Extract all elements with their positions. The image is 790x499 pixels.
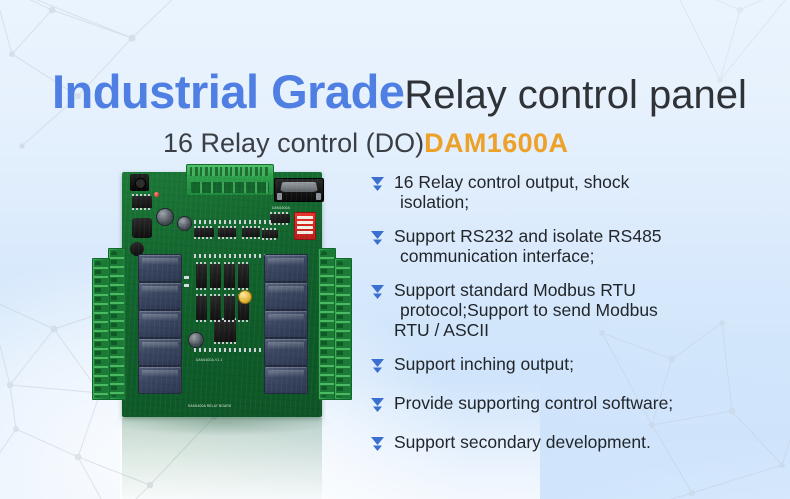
relay-module bbox=[138, 310, 182, 338]
driver-ic bbox=[262, 230, 278, 238]
optocoupler bbox=[238, 264, 249, 288]
relay-module bbox=[264, 338, 308, 366]
yellow-capacitor bbox=[238, 290, 252, 304]
electrolytic-capacitor bbox=[188, 332, 204, 348]
double-chevron-down-icon bbox=[370, 175, 385, 197]
feature-line-1: Support inching output; bbox=[394, 354, 574, 374]
relay-module bbox=[138, 254, 182, 282]
feature-line-1: Support RS232 and isolate RS485 bbox=[394, 226, 662, 246]
relay-module bbox=[138, 338, 182, 366]
title-rest-text: Relay control panel bbox=[404, 73, 746, 117]
relay-board: DAM1600A DAM1600A-V1.1 DAM1600A RELAY BO… bbox=[122, 172, 322, 417]
electrolytic-capacitor bbox=[156, 208, 174, 226]
feature-item: Support standard Modbus RTUprotocol;Supp… bbox=[370, 280, 770, 340]
relay-module bbox=[264, 366, 308, 394]
smd-resistor bbox=[184, 284, 189, 287]
power-jack bbox=[130, 174, 149, 191]
feature-item: 16 Relay control output, shockisolation; bbox=[370, 172, 770, 212]
feature-text: Support inching output; bbox=[394, 354, 574, 374]
optocoupler bbox=[196, 296, 207, 320]
product-image: DAM1600A DAM1600A-V1.1 DAM1600A RELAY BO… bbox=[100, 162, 345, 452]
electrolytic-capacitor bbox=[177, 216, 192, 231]
silkscreen-mid: DAM1600A-V1.1 bbox=[196, 358, 223, 362]
feature-text: 16 Relay control output, shockisolation; bbox=[394, 172, 629, 212]
optocoupler bbox=[224, 264, 235, 288]
logic-ic bbox=[218, 228, 236, 237]
feature-line-2: protocol;Support to send Modbus bbox=[394, 300, 658, 320]
optocoupler bbox=[210, 296, 221, 320]
feature-item: Support inching output; bbox=[370, 354, 770, 379]
optocoupler bbox=[196, 264, 207, 288]
feature-line-1: Support secondary development. bbox=[394, 432, 651, 452]
feature-line-3: RTU / ASCII bbox=[394, 320, 658, 340]
smd-resistor bbox=[184, 276, 189, 279]
feature-line-1: 16 Relay control output, shock bbox=[394, 172, 629, 192]
feature-line-2: isolation; bbox=[394, 192, 629, 212]
double-chevron-down-icon bbox=[370, 357, 385, 379]
relay-module bbox=[138, 282, 182, 310]
double-chevron-down-icon bbox=[370, 396, 385, 418]
optocoupler bbox=[210, 264, 221, 288]
db9-serial-connector bbox=[274, 178, 324, 202]
banner-subtitle: 16 Relay control (DO)DAM1600A bbox=[163, 126, 568, 160]
inductor bbox=[132, 218, 152, 238]
feature-line-2: communication interface; bbox=[394, 246, 662, 266]
logic-ic bbox=[242, 228, 260, 237]
feature-item: Support secondary development. bbox=[370, 432, 770, 457]
feature-text: Support secondary development. bbox=[394, 432, 651, 452]
double-chevron-down-icon bbox=[370, 435, 385, 457]
feature-line-1: Support standard Modbus RTU bbox=[394, 280, 636, 300]
feature-item: Support RS232 and isolate RS485communica… bbox=[370, 226, 770, 266]
relay-module bbox=[264, 310, 308, 338]
subtitle-model-number: DAM1600A bbox=[424, 128, 568, 158]
power-led bbox=[154, 192, 159, 197]
terminal-strip-right-outer bbox=[334, 258, 352, 400]
silkscreen-top: DAM1600A bbox=[272, 206, 290, 210]
terminal-block-top bbox=[186, 164, 274, 196]
silkscreen-bottom: DAM1600A RELAY BOARD bbox=[188, 404, 231, 408]
feature-item: Provide supporting control software; bbox=[370, 393, 770, 418]
banner-title: Industrial GradeRelay control panel bbox=[52, 63, 747, 124]
double-chevron-down-icon bbox=[370, 283, 385, 305]
double-chevron-down-icon bbox=[370, 229, 385, 251]
terminal-strip-left-outer bbox=[92, 258, 110, 400]
smd-pad-row bbox=[194, 220, 274, 224]
optocoupler bbox=[224, 296, 235, 320]
title-brand-text: Industrial Grade bbox=[52, 65, 404, 118]
smd-pad-row bbox=[194, 254, 274, 258]
regulator-ic bbox=[132, 196, 152, 208]
smd-pad-row bbox=[194, 348, 270, 352]
subtitle-text: 16 Relay control (DO) bbox=[163, 128, 424, 158]
relay-module bbox=[264, 254, 308, 282]
relay-module bbox=[138, 366, 182, 394]
product-banner: Industrial GradeRelay control panel 16 R… bbox=[0, 0, 790, 499]
logic-ic bbox=[194, 228, 214, 237]
microcontroller bbox=[214, 320, 236, 342]
feature-text: Support RS232 and isolate RS485communica… bbox=[394, 226, 662, 266]
relay-module bbox=[264, 282, 308, 310]
product-reflection bbox=[122, 417, 322, 499]
feature-line-1: Provide supporting control software; bbox=[394, 393, 673, 413]
feature-text: Provide supporting control software; bbox=[394, 393, 673, 413]
terminal-strip-left bbox=[108, 248, 126, 400]
feature-list: 16 Relay control output, shockisolation;… bbox=[370, 172, 770, 471]
feature-text: Support standard Modbus RTUprotocol;Supp… bbox=[394, 280, 658, 340]
dip-switch bbox=[294, 212, 316, 240]
